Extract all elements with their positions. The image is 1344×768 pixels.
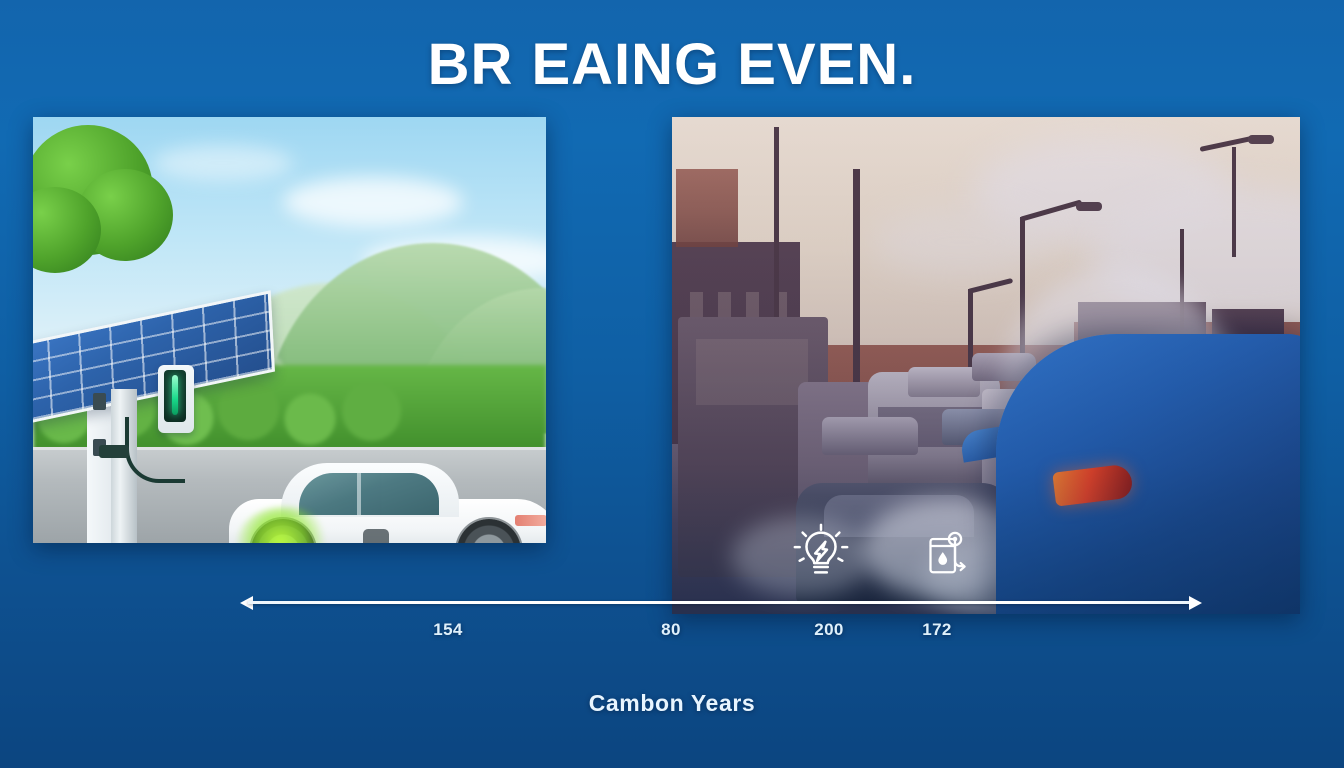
fuel-pump-icon[interactable] — [920, 525, 976, 581]
clean-energy-scene[interactable] — [33, 117, 546, 543]
carbon-years-axis — [240, 596, 1202, 610]
lightbulb-energy-icon[interactable] — [790, 521, 852, 583]
street-light-head — [1076, 202, 1102, 211]
icon-legend-row — [790, 521, 1020, 583]
truck-panel — [696, 339, 808, 405]
page-title-part2: EAING EVEN. — [531, 32, 916, 97]
axis-tick-label: 80 — [661, 620, 681, 640]
cloud-shape — [153, 145, 293, 181]
electric-car — [229, 455, 546, 543]
wall-socket-icon — [93, 393, 106, 410]
slide-canvas: BREAING EVEN. — [0, 0, 1344, 768]
axis-tick-label: 154 — [433, 620, 463, 640]
page-title: BREAING EVEN. — [0, 34, 1344, 96]
axis-caption: Cambon Years — [0, 690, 1344, 717]
street-light-head — [1248, 135, 1274, 144]
distant-car — [822, 417, 918, 455]
blue-foreground-car — [996, 334, 1300, 614]
charging-plug — [99, 445, 129, 458]
distant-car — [908, 367, 980, 397]
arrow-right-icon — [1189, 596, 1202, 610]
rooftop-structure — [676, 169, 738, 247]
tail-light — [515, 515, 546, 526]
cloud-shape — [283, 177, 463, 227]
axis-tick-label: 200 — [814, 620, 844, 640]
axis-tick-label: 172 — [922, 620, 952, 640]
car-window — [299, 473, 439, 515]
page-title-part1: BR — [428, 32, 514, 97]
antenna-pole — [1232, 147, 1236, 257]
charging-indicator-light — [172, 375, 178, 415]
axis-line — [248, 601, 1194, 604]
charge-port — [363, 529, 389, 543]
